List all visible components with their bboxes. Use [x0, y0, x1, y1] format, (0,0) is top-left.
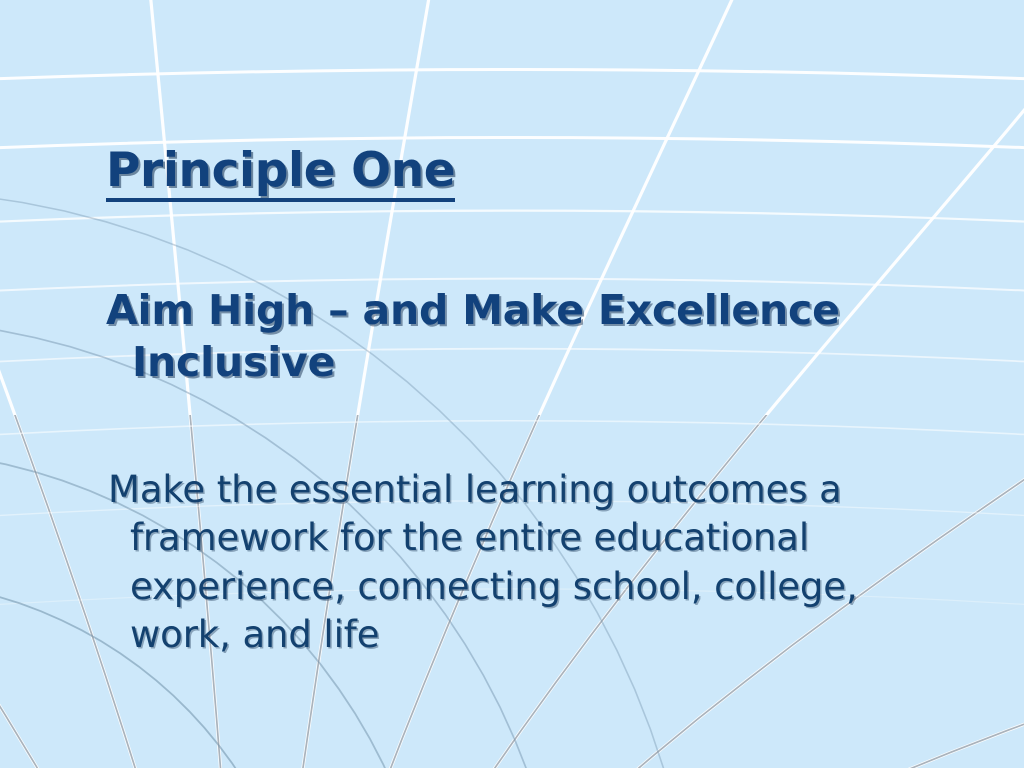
slide-title-text: Principle One — [106, 146, 455, 202]
slide-body-text: Make the essential learning outcomes a f… — [108, 466, 970, 660]
slide-subtitle: Aim High – and Make Excellence Inclusive — [106, 284, 992, 389]
slide-content: Principle One Aim High – and Make Excell… — [0, 0, 1024, 768]
slide-canvas: Principle One Aim High – and Make Excell… — [0, 0, 1024, 768]
slide-title: Principle One — [106, 146, 966, 202]
